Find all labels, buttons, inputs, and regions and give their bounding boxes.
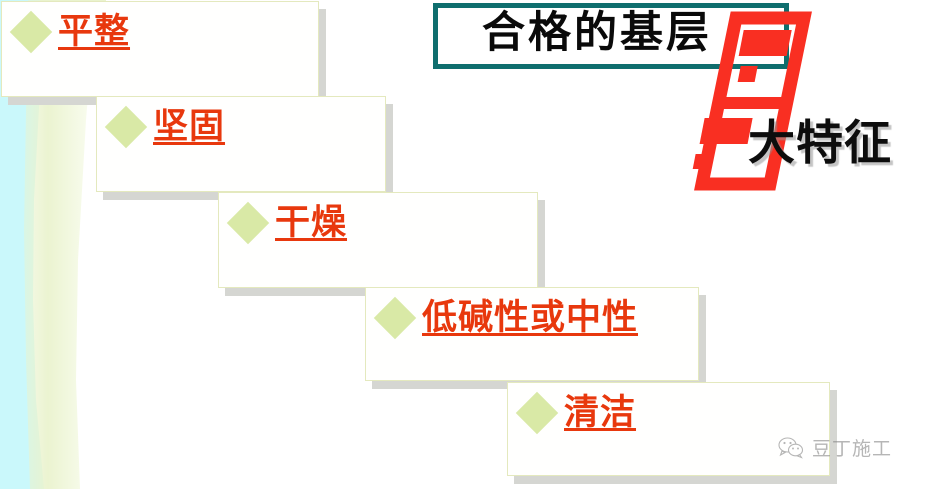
feature-card-1[interactable]: 平整 — [1, 1, 319, 97]
feature-card-content: 干燥 — [233, 205, 347, 242]
feature-card-2[interactable]: 坚固 — [96, 96, 386, 192]
slide-canvas: 平整 坚固 干燥 低碱性或中性 清洁 合格的基层 — [0, 0, 928, 489]
feature-card-content: 坚固 — [111, 109, 225, 146]
feature-card-5[interactable]: 清洁 — [507, 382, 830, 476]
page-title: 合格的基层 — [482, 8, 712, 60]
feature-card-content: 低碱性或中性 — [380, 300, 638, 337]
diamond-bullet-icon — [227, 202, 269, 244]
watermark: 豆丁施工 — [778, 434, 892, 461]
diamond-bullet-icon — [516, 392, 558, 434]
feature-card-content: 清洁 — [522, 395, 636, 432]
feature-suffix-text: 大特征 — [748, 118, 892, 170]
diamond-bullet-icon — [374, 297, 416, 339]
feature-card-3[interactable]: 干燥 — [218, 192, 538, 288]
feature-card-label: 平整 — [58, 14, 130, 51]
wechat-icon — [778, 437, 804, 459]
feature-card-label: 干燥 — [275, 205, 347, 242]
diamond-bullet-icon — [10, 11, 52, 53]
feature-card-label: 清洁 — [564, 395, 636, 432]
watermark-label: 豆丁施工 — [812, 434, 892, 461]
feature-card-content: 平整 — [16, 14, 130, 51]
feature-card-label: 坚固 — [153, 109, 225, 146]
feature-card-label: 低碱性或中性 — [422, 300, 638, 337]
diamond-bullet-icon — [105, 106, 147, 148]
feature-card-4[interactable]: 低碱性或中性 — [365, 287, 699, 381]
